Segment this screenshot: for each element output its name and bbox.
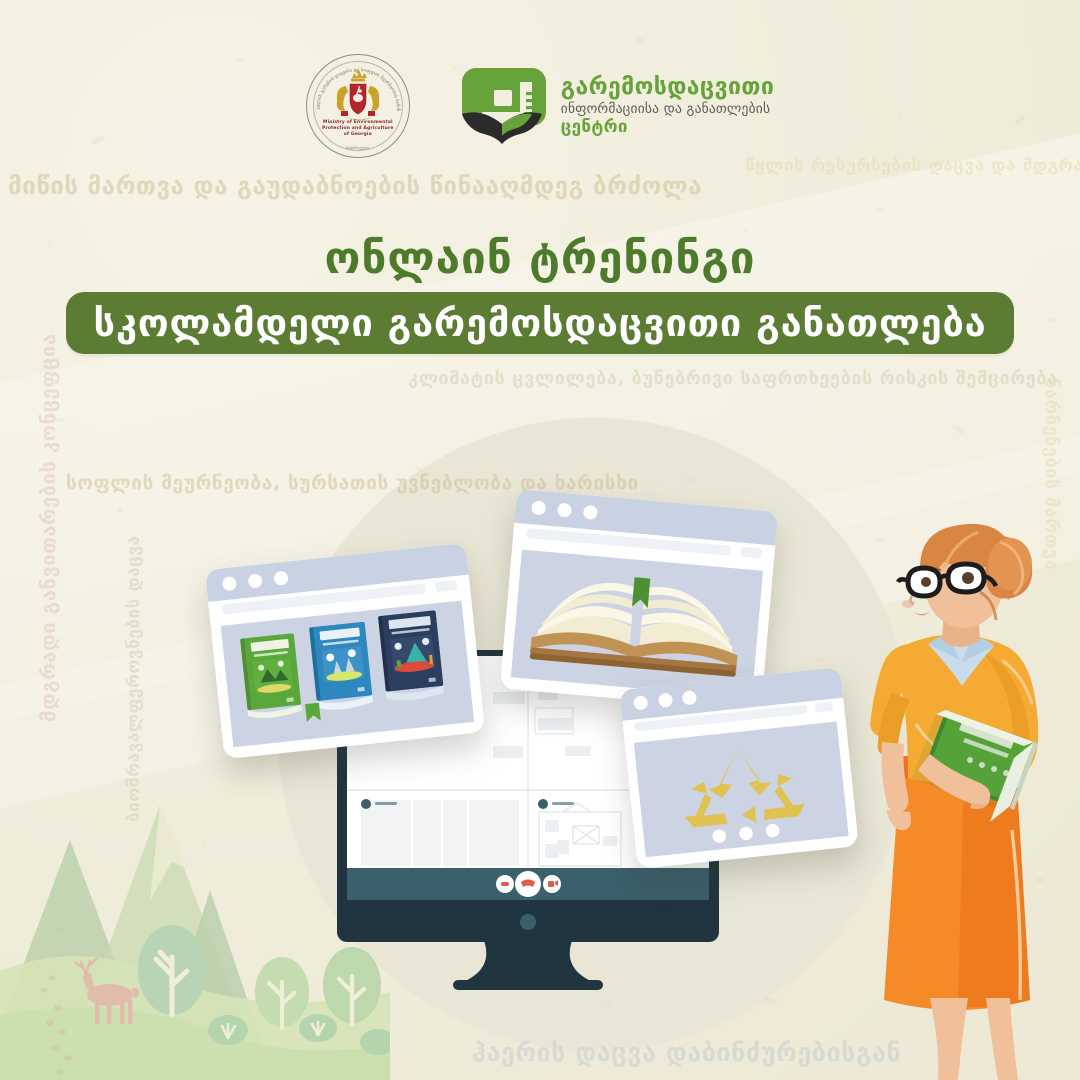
window-dot-yellow[interactable] [557, 503, 572, 518]
browser-window-recycling[interactable] [619, 667, 859, 869]
window-content-books [221, 601, 473, 747]
watermark-agriculture: სოფლის მეურნეობა, სურსათის უვნებლობა და … [66, 472, 639, 494]
eiec-logo-text: გარემოსდაცვითი ინფორმაციისა და განათლები… [561, 76, 774, 137]
window-dot-green[interactable] [682, 690, 697, 705]
textbook-navy [378, 610, 445, 702]
watermark-sustainable-development: მდგრადი განვითარების კონცეფცია [36, 333, 60, 722]
page-title: სკოლამდელი გარემოსდაცვითი განათლება [93, 301, 986, 345]
window-dot-green[interactable] [583, 505, 598, 520]
emblem-caption-sub: საქართველო [306, 146, 410, 150]
eiec-logo-line1: გარემოსდაცვითი [561, 76, 774, 99]
address-bar-button[interactable] [815, 702, 834, 713]
teacher-character [852, 520, 1080, 1080]
eiec-logo-line3: ცენტრი [561, 119, 774, 136]
window-content-recycling [634, 722, 849, 858]
window-dot-yellow[interactable] [658, 693, 673, 708]
watermark-water-resources: წყლის რესურსების დაცვა და მდგრადი მართვა [745, 156, 1080, 176]
window-dot-yellow[interactable] [248, 573, 263, 588]
watermark-land-management: მიწის მართვა და გაუდაბნოების წინააღმდეგ … [8, 172, 702, 200]
address-bar-button[interactable] [435, 580, 457, 592]
watermark-climate-change: კლიმატის ცვლილება, ბუნებრივი საფრთხეების… [408, 368, 1058, 389]
window-dot-green[interactable] [274, 571, 289, 586]
watermark-biodiversity: ბიომრავალფეროვნების დაცვა [124, 535, 144, 822]
forest-scene [0, 780, 390, 1080]
textbook-green [241, 633, 303, 720]
window-dot-red[interactable] [633, 695, 648, 710]
browser-window-books[interactable] [205, 543, 485, 759]
emblem-caption-line3: of Georgia [306, 132, 410, 138]
poster-canvas: საქართველოს გარემოს დაცვისა და სოფლის მე… [0, 0, 1080, 1080]
page-eyebrow-title: ონლაინ ტრენინგი [0, 233, 1080, 284]
watermark-air-protection: ჰაერის დაცვა დაბინძურებისგან [472, 1038, 901, 1067]
page-title-banner: სკოლამდელი გარემოსდაცვითი განათლება [66, 292, 1014, 354]
coat-of-arms [306, 54, 410, 158]
recycling-icon [678, 743, 806, 830]
emblem-caption: Ministry of Environmental Protection and… [306, 120, 410, 138]
window-content-open-book [511, 550, 762, 699]
eiec-logo-mark [458, 64, 550, 148]
window-dot-red[interactable] [531, 500, 546, 515]
header: საქართველოს გარემოს დაცვისა და სოფლის მე… [0, 52, 1080, 160]
ministry-emblem: საქართველოს გარემოს დაცვისა და სოფლის მე… [306, 54, 410, 158]
textbook-blue [309, 622, 373, 712]
eiec-logo: გარემოსდაცვითი ინფორმაციისა და განათლები… [458, 64, 774, 148]
eiec-logo-line2: ინფორმაციისა და განათლების [561, 103, 774, 117]
address-bar-button[interactable] [740, 547, 762, 559]
window-dot-red[interactable] [221, 576, 236, 591]
